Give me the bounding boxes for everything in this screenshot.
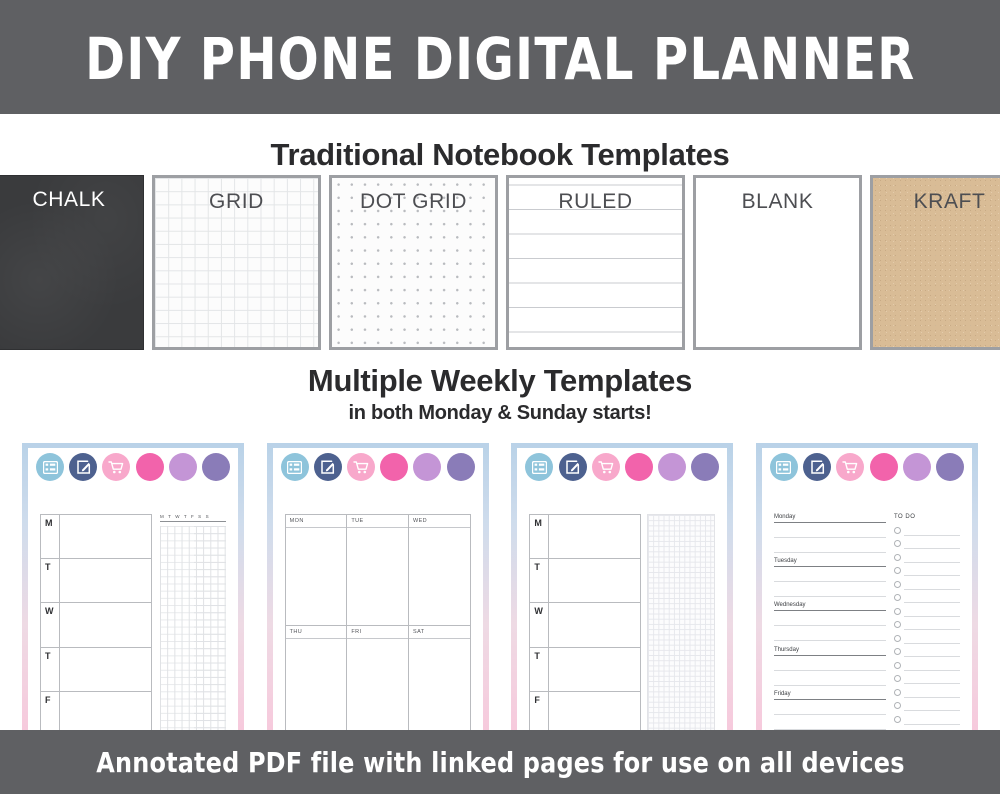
weekly-icon-row xyxy=(36,452,230,482)
day-row[interactable]: F xyxy=(530,692,640,735)
weekday-grid-row: MON TUE WED xyxy=(286,515,470,626)
day-letter: T xyxy=(41,648,60,691)
todo-checkbox-icon[interactable] xyxy=(894,702,901,709)
todo-checkbox-icon[interactable] xyxy=(894,689,901,696)
day-letter: M xyxy=(530,515,549,558)
footer-bar: Annotated PDF file with linked pages for… xyxy=(0,730,1000,794)
todo-list xyxy=(894,522,960,725)
todo-item[interactable] xyxy=(894,590,960,604)
weekly-card-inner: M T W T xyxy=(517,448,727,735)
day-name: Friday xyxy=(774,691,886,700)
edit-icon[interactable] xyxy=(559,453,587,481)
notebook-template-label: GRID xyxy=(155,190,318,214)
day-line-group[interactable]: Friday xyxy=(774,691,886,735)
weekday-grid-row: THU FRI SAT xyxy=(286,626,470,736)
weekday-grid: MON TUE WED THU xyxy=(285,514,471,735)
weekly-card-content: MON TUE WED THU xyxy=(285,514,471,735)
day-entry-box[interactable] xyxy=(549,515,640,558)
notebook-template-label: CHALK xyxy=(0,188,143,212)
list-icon[interactable] xyxy=(36,453,64,481)
day-letter: W xyxy=(41,603,60,646)
day-letter: F xyxy=(530,692,549,735)
circle-lilac-icon[interactable] xyxy=(903,453,931,481)
weekly-template-card-3[interactable]: M T W T xyxy=(511,443,733,735)
notebook-template-label: KRAFT xyxy=(873,190,1000,214)
todo-item[interactable] xyxy=(894,657,960,671)
day-row[interactable]: T xyxy=(41,648,151,692)
weekday-label: MON xyxy=(286,515,347,528)
circle-purple-icon[interactable] xyxy=(447,453,475,481)
weekday-label: SAT xyxy=(409,626,470,639)
weekly-card-body: Monday Tuesday Wednesday Thursday xyxy=(766,486,968,735)
circle-pink-icon[interactable] xyxy=(136,453,164,481)
weekly-card-body: MON TUE WED THU xyxy=(277,486,479,735)
day-entry-box[interactable] xyxy=(60,515,151,558)
weekday-cell[interactable]: THU xyxy=(286,626,348,736)
circle-purple-icon[interactable] xyxy=(691,453,719,481)
day-letter: F xyxy=(41,692,60,735)
weekly-card-body: M T W T xyxy=(32,486,234,735)
todo-checkbox-icon[interactable] xyxy=(894,621,901,628)
todo-write-line[interactable] xyxy=(904,589,960,590)
footer-text: Annotated PDF file with linked pages for… xyxy=(96,746,904,779)
notebook-template-label: BLANK xyxy=(696,190,859,214)
weekday-cell[interactable]: WED xyxy=(409,515,470,625)
todo-checkbox-icon[interactable] xyxy=(894,716,901,723)
todo-checkbox-icon[interactable] xyxy=(894,594,901,601)
notebook-template-grid[interactable]: GRID xyxy=(152,175,321,350)
day-entry-box[interactable] xyxy=(60,648,151,691)
weekly-icon-row xyxy=(770,452,964,482)
habit-tracker-lines xyxy=(194,526,226,735)
todo-panel: TO DO xyxy=(894,514,960,735)
day-line-group[interactable]: Monday xyxy=(774,514,886,558)
page-title: DIY PHONE DIGITAL PLANNER xyxy=(85,26,916,88)
todo-write-line[interactable] xyxy=(904,629,960,630)
weekly-template-card-2[interactable]: MON TUE WED THU xyxy=(267,443,489,735)
todo-write-line[interactable] xyxy=(904,643,960,644)
todo-write-line[interactable] xyxy=(904,697,960,698)
cart-icon[interactable] xyxy=(347,453,375,481)
notebook-template-label: RULED xyxy=(509,190,682,214)
todo-item[interactable] xyxy=(894,698,960,712)
todo-item[interactable] xyxy=(894,711,960,725)
todo-item[interactable] xyxy=(894,644,960,658)
day-column: M T W T xyxy=(529,514,641,735)
todo-item[interactable] xyxy=(894,563,960,577)
todo-write-line[interactable] xyxy=(904,575,960,576)
todo-write-line[interactable] xyxy=(904,683,960,684)
notebook-template-dot-grid[interactable]: DOT GRID xyxy=(329,175,498,350)
todo-checkbox-icon[interactable] xyxy=(894,527,901,534)
circle-lilac-icon[interactable] xyxy=(413,453,441,481)
notebook-template-blank[interactable]: BLANK xyxy=(693,175,862,350)
weekly-template-card-4[interactable]: Monday Tuesday Wednesday Thursday xyxy=(756,443,978,735)
cart-icon[interactable] xyxy=(592,453,620,481)
list-icon[interactable] xyxy=(281,453,309,481)
todo-item[interactable] xyxy=(894,684,960,698)
weekly-template-card-1[interactable]: M T W T xyxy=(22,443,244,735)
todo-checkbox-icon[interactable] xyxy=(894,662,901,669)
notebook-template-ruled[interactable]: RULED xyxy=(506,175,685,350)
todo-item[interactable] xyxy=(894,617,960,631)
notebook-template-chalk[interactable]: CHALK xyxy=(0,175,144,350)
day-entry-box[interactable] xyxy=(549,603,640,646)
notebook-section-heading: Traditional Notebook Templates xyxy=(0,137,1000,173)
weekly-icon-row xyxy=(525,452,719,482)
weekday-label: FRI xyxy=(347,626,408,639)
weekday-cell[interactable]: TUE xyxy=(347,515,409,625)
day-letter: M xyxy=(41,515,60,558)
day-row[interactable]: T xyxy=(41,559,151,603)
day-entry-box[interactable] xyxy=(60,692,151,735)
weekly-templates-strip: M T W T xyxy=(0,443,1000,735)
day-row[interactable]: M xyxy=(41,515,151,559)
weekday-label: WED xyxy=(409,515,470,528)
habit-tracker[interactable]: M T W T F S S xyxy=(160,514,226,735)
todo-checkbox-icon[interactable] xyxy=(894,540,901,547)
circle-lilac-icon[interactable] xyxy=(169,453,197,481)
day-letter: W xyxy=(530,603,549,646)
weekly-card-inner: Monday Tuesday Wednesday Thursday xyxy=(762,448,972,735)
todo-write-line[interactable] xyxy=(904,535,960,536)
day-letter: T xyxy=(530,559,549,602)
day-row[interactable]: T xyxy=(530,648,640,692)
graph-paper-panel[interactable] xyxy=(647,514,715,735)
day-row[interactable]: W xyxy=(530,603,640,647)
day-entry-box[interactable] xyxy=(549,648,640,691)
day-line-group[interactable]: Wednesday xyxy=(774,602,886,646)
todo-item[interactable] xyxy=(894,671,960,685)
weekday-cell[interactable]: SAT xyxy=(409,626,470,736)
day-write-lines[interactable] xyxy=(774,611,886,646)
todo-checkbox-icon[interactable] xyxy=(894,675,901,682)
day-name: Monday xyxy=(774,514,886,523)
edit-icon[interactable] xyxy=(314,453,342,481)
todo-item[interactable] xyxy=(894,576,960,590)
day-row[interactable]: T xyxy=(530,559,640,603)
todo-write-line[interactable] xyxy=(904,656,960,657)
notebook-templates-strip: CHALK GRID DOT GRID RULED BLANK KRAFT xyxy=(0,175,1000,350)
day-row[interactable]: M xyxy=(530,515,640,559)
todo-checkbox-icon[interactable] xyxy=(894,648,901,655)
todo-item[interactable] xyxy=(894,549,960,563)
todo-item[interactable] xyxy=(894,603,960,617)
todo-item[interactable] xyxy=(894,536,960,550)
weekly-section-subheading: in both Monday & Sunday starts! xyxy=(0,402,1000,425)
header-bar: DIY PHONE DIGITAL PLANNER xyxy=(0,0,1000,114)
cart-icon[interactable] xyxy=(836,453,864,481)
day-line-group[interactable]: Tuesday xyxy=(774,558,886,602)
day-name: Tuesday xyxy=(774,558,886,567)
weekday-cell[interactable]: FRI xyxy=(347,626,409,736)
todo-item[interactable] xyxy=(894,522,960,536)
weekly-card-content: M T W T xyxy=(40,514,226,735)
weekday-label: THU xyxy=(286,626,347,639)
todo-write-line[interactable] xyxy=(904,710,960,711)
list-icon[interactable] xyxy=(525,453,553,481)
day-lines-column: Monday Tuesday Wednesday Thursday xyxy=(774,514,886,735)
weekly-card-inner: MON TUE WED THU xyxy=(273,448,483,735)
weekly-card-content: Monday Tuesday Wednesday Thursday xyxy=(774,514,960,735)
day-entry-box[interactable] xyxy=(549,559,640,602)
notebook-template-label: DOT GRID xyxy=(332,190,495,214)
circle-purple-icon[interactable] xyxy=(202,453,230,481)
day-letter: T xyxy=(41,559,60,602)
circle-pink-icon[interactable] xyxy=(380,453,408,481)
habit-tracker-header: M T W T F S S xyxy=(160,514,226,522)
todo-checkbox-icon[interactable] xyxy=(894,608,901,615)
todo-write-line[interactable] xyxy=(904,670,960,671)
todo-write-line[interactable] xyxy=(904,616,960,617)
weekday-cell[interactable]: MON xyxy=(286,515,348,625)
list-icon[interactable] xyxy=(770,453,798,481)
edit-icon[interactable] xyxy=(69,453,97,481)
weekly-icon-row xyxy=(281,452,475,482)
todo-write-line[interactable] xyxy=(904,724,960,725)
todo-checkbox-icon[interactable] xyxy=(894,635,901,642)
day-row[interactable]: W xyxy=(41,603,151,647)
circle-pink-icon[interactable] xyxy=(870,453,898,481)
day-entry-box[interactable] xyxy=(60,603,151,646)
day-write-lines[interactable] xyxy=(774,523,886,558)
edit-icon[interactable] xyxy=(803,453,831,481)
todo-checkbox-icon[interactable] xyxy=(894,581,901,588)
day-write-lines[interactable] xyxy=(774,567,886,602)
weekly-card-inner: M T W T xyxy=(28,448,238,735)
day-letter: T xyxy=(530,648,549,691)
day-line-group[interactable]: Thursday xyxy=(774,647,886,691)
notebook-template-kraft[interactable]: KRAFT xyxy=(870,175,1000,350)
cart-icon[interactable] xyxy=(102,453,130,481)
day-column: M T W T xyxy=(40,514,152,735)
weekly-section-heading: Multiple Weekly Templates xyxy=(0,363,1000,399)
circle-pink-icon[interactable] xyxy=(625,453,653,481)
day-row[interactable]: F xyxy=(41,692,151,735)
circle-lilac-icon[interactable] xyxy=(658,453,686,481)
todo-checkbox-icon[interactable] xyxy=(894,567,901,574)
circle-purple-icon[interactable] xyxy=(936,453,964,481)
todo-write-line[interactable] xyxy=(904,548,960,549)
todo-write-line[interactable] xyxy=(904,562,960,563)
day-entry-box[interactable] xyxy=(60,559,151,602)
day-name: Thursday xyxy=(774,647,886,656)
day-write-lines[interactable] xyxy=(774,656,886,691)
todo-header: TO DO xyxy=(894,514,960,520)
weekday-label: TUE xyxy=(347,515,408,528)
todo-write-line[interactable] xyxy=(904,602,960,603)
weekly-card-body: M T W T xyxy=(521,486,723,735)
todo-item[interactable] xyxy=(894,630,960,644)
todo-checkbox-icon[interactable] xyxy=(894,554,901,561)
weekly-card-content: M T W T xyxy=(529,514,715,735)
day-name: Wednesday xyxy=(774,602,886,611)
day-entry-box[interactable] xyxy=(549,692,640,735)
